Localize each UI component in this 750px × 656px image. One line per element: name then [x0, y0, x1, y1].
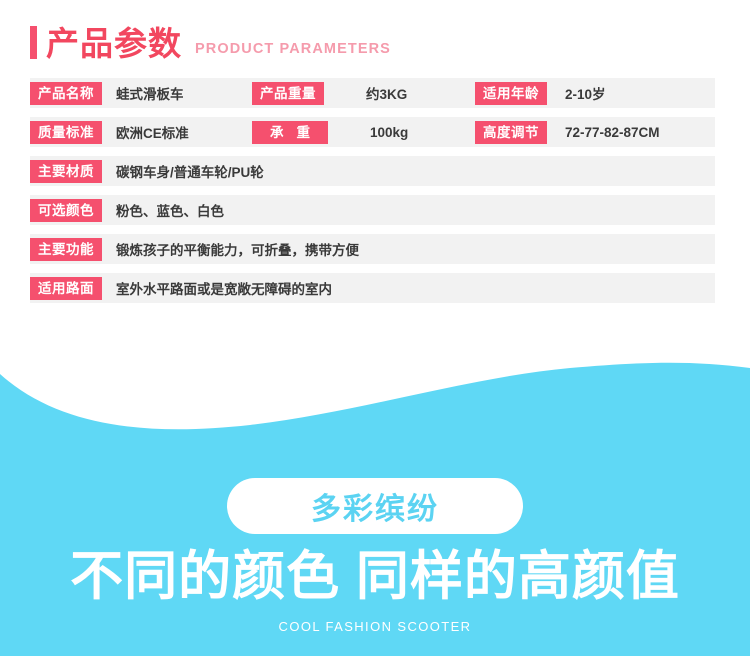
- spec-cell: 高度调节 72-77-82-87CM: [475, 121, 715, 144]
- wave-divider-icon: [0, 330, 750, 440]
- spec-label: 产品名称: [30, 82, 102, 105]
- pill-label: 多彩缤纷: [311, 484, 439, 528]
- header-title-group: 产品参数 PRODUCT PARAMETERS: [30, 22, 391, 60]
- page-title: 产品参数: [46, 27, 182, 60]
- spec-value: 约3KG: [324, 83, 475, 103]
- spec-value: 2-10岁: [547, 83, 715, 103]
- spec-label: 适用路面: [30, 277, 102, 300]
- spec-cell: 适用年龄 2-10岁: [475, 82, 715, 105]
- spec-table: 产品名称 蛙式滑板车 产品重量 约3KG 适用年龄 2-10岁 质量标准 欧洲C…: [0, 78, 750, 312]
- spec-value: 欧洲CE标准: [102, 122, 252, 142]
- title-accent-bar: [30, 26, 37, 59]
- spec-cell: 质量标准 欧洲CE标准: [30, 121, 252, 144]
- spec-value: 粉色、蓝色、白色: [102, 200, 224, 220]
- spec-cell: 承重 100kg: [252, 121, 475, 144]
- spec-label: 承重: [252, 121, 328, 144]
- table-row: 适用路面 室外水平路面或是宽敞无障碍的室内: [30, 273, 715, 303]
- spec-label: 可选颜色: [30, 199, 102, 222]
- spec-cell: 产品重量 约3KG: [252, 82, 475, 105]
- spec-value: 蛙式滑板车: [102, 83, 252, 103]
- spec-label: 主要功能: [30, 238, 102, 261]
- table-row: 主要功能 锻炼孩子的平衡能力，可折叠，携带方便: [30, 234, 715, 264]
- highlight-pill: 多彩缤纷: [227, 478, 523, 534]
- table-row: 产品名称 蛙式滑板车 产品重量 约3KG 适用年龄 2-10岁: [30, 78, 715, 108]
- spec-label: 产品重量: [252, 82, 324, 105]
- spec-label: 高度调节: [475, 121, 547, 144]
- page-header: 产品参数 PRODUCT PARAMETERS: [0, 0, 750, 78]
- table-row: 主要材质 碳钢车身/普通车轮/PU轮: [30, 156, 715, 186]
- table-row: 可选颜色 粉色、蓝色、白色: [30, 195, 715, 225]
- spec-label: 适用年龄: [475, 82, 547, 105]
- spec-label: 质量标准: [30, 121, 102, 144]
- page-subtitle: PRODUCT PARAMETERS: [195, 42, 391, 57]
- spec-value: 碳钢车身/普通车轮/PU轮: [102, 161, 264, 181]
- spec-cell: 产品名称 蛙式滑板车: [30, 82, 252, 105]
- spec-value: 72-77-82-87CM: [547, 125, 715, 140]
- spec-value: 锻炼孩子的平衡能力，可折叠，携带方便: [102, 239, 359, 259]
- table-row: 质量标准 欧洲CE标准 承重 100kg 高度调节 72-77-82-87CM: [30, 117, 715, 147]
- hero-headline: 不同的颜色 同样的高颜值: [0, 550, 750, 603]
- hero-subtitle: COOL FASHION SCOOTER: [0, 619, 750, 634]
- spec-value: 室外水平路面或是宽敞无障碍的室内: [102, 278, 332, 298]
- spec-label: 主要材质: [30, 160, 102, 183]
- spec-value: 100kg: [328, 125, 475, 140]
- hero-banner: 多彩缤纷 不同的颜色 同样的高颜值 COOL FASHION SCOOTER: [0, 330, 750, 656]
